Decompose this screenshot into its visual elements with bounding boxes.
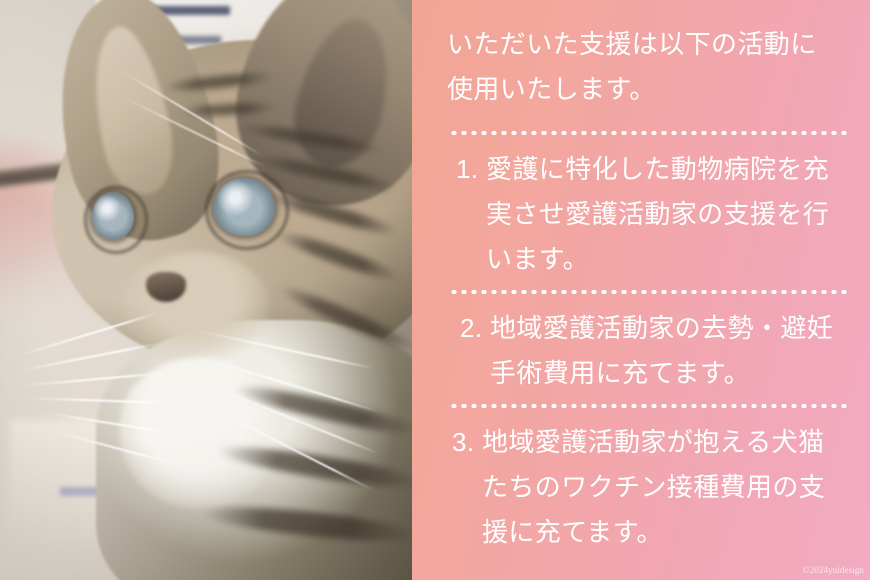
usage-item-3: 3. 地域愛護活動家が抱える犬猫たちのワクチン接種費用の支援に充てます。 <box>452 420 850 555</box>
usage-item-2-number: 2. <box>460 306 490 351</box>
divider-2 <box>449 290 850 294</box>
divider-1 <box>449 131 850 135</box>
usage-item-2: 2. 地域愛護活動家の去勢・避妊手術費用に充てます。 <box>460 306 850 396</box>
cat-figure <box>0 0 412 580</box>
usage-item-1: 1. 愛護に特化した動物病院を充実させ愛護活動家の支援を行います。 <box>456 147 850 282</box>
usage-item-1-number: 1. <box>456 147 486 192</box>
cat-photo-stage <box>0 0 412 580</box>
cat-chest-patch <box>120 358 280 508</box>
usage-item-1-text: 愛護に特化した動物病院を充実させ愛護活動家の支援を行います。 <box>486 147 850 282</box>
usage-item-3-number: 3. <box>452 420 482 465</box>
divider-3 <box>449 404 850 408</box>
cat-right-eye <box>213 178 275 236</box>
usage-item-2-text: 地域愛護活動家の去勢・避妊手術費用に充てます。 <box>490 306 850 396</box>
cat-photo <box>0 0 412 580</box>
usage-item-3-text: 地域愛護活動家が抱える犬猫たちのワクチン接種費用の支援に充てます。 <box>482 420 850 555</box>
cat-left-eye <box>92 192 134 240</box>
support-usage-poster: いただいた支援は以下の活動に 使用いたします。 1. 愛護に特化した動物病院を充… <box>0 0 870 580</box>
usage-text-panel: いただいた支援は以下の活動に 使用いたします。 1. 愛護に特化した動物病院を充… <box>412 0 870 580</box>
intro-text: いただいた支援は以下の活動に 使用いたします。 <box>447 22 850 112</box>
copyright-notice: ©2024yuidesign <box>803 564 864 576</box>
usage-text-inner: いただいた支援は以下の活動に 使用いたします。 1. 愛護に特化した動物病院を充… <box>438 0 850 580</box>
